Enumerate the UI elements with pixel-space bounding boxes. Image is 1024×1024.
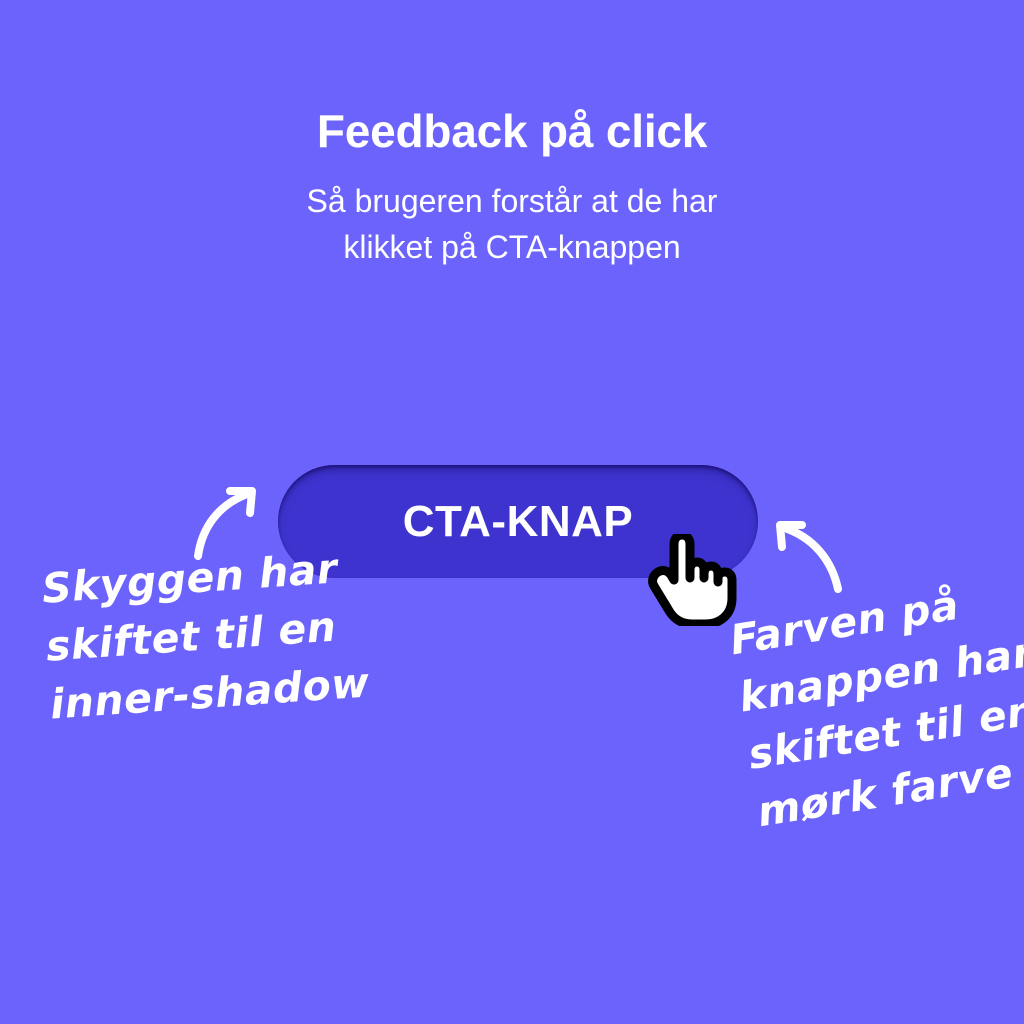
page-title: Feedback på click — [0, 104, 1024, 158]
header-block: Feedback på click Så brugeren forstår at… — [0, 104, 1024, 270]
annotation-left-text: Skyggen har skiftet til en inner-shadow — [40, 538, 371, 734]
slide-canvas: Feedback på click Så brugeren forstår at… — [0, 0, 1024, 1024]
curved-arrow-up-left-icon — [766, 515, 846, 593]
annotation-right-text: Farven på knappen har skiftet til en mør… — [726, 566, 1024, 842]
page-subtitle: Så brugeren forstår at de har klikket på… — [0, 178, 1024, 270]
